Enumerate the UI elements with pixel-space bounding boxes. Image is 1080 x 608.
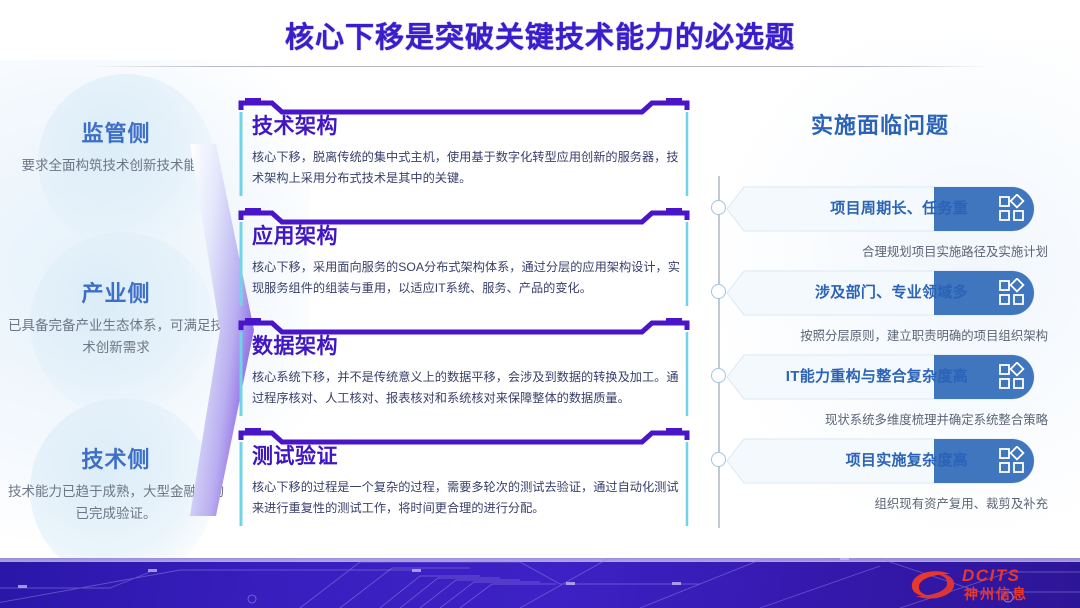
card-title: 测试验证 <box>252 440 680 470</box>
right-column: 实施面临问题 项目周期长、任务重 <box>700 104 1060 544</box>
issue-pill: 项目周期长、任务重 <box>726 186 1036 232</box>
timeline-node <box>711 284 726 299</box>
card-tech-architecture[interactable]: 技术架构 核心下移，脱离传统的集中式主机，使用基于数字化转型应用创新的服务器，技… <box>238 96 690 200</box>
card-app-architecture[interactable]: 应用架构 核心下移，采用面向服务的SOA分布式架构体系，通过分层的应用架构设计，… <box>238 206 690 310</box>
card-desc: 核心系统下移，并不是传统意义上的数据平移，会涉及到数据的转换及加工。通过程序核对… <box>252 367 680 409</box>
slide-header: 核心下移是突破关键技术能力的必选题 <box>0 0 1080 72</box>
card-test-verification[interactable]: 测试验证 核心下移的过程是一个复杂的过程，需要多轮次的测试去验证，通过自动化测试… <box>238 426 690 530</box>
company-logo: DCITS 神州信息 <box>906 564 1066 604</box>
card-title: 数据架构 <box>252 330 680 360</box>
issue-pill: IT能力重构与整合复杂度高 <box>726 354 1036 400</box>
card-desc: 核心下移的过程是一个复杂的过程，需要多轮次的测试去验证，通过自动化测试来进行重复… <box>252 477 680 519</box>
page-title: 核心下移是突破关键技术能力的必选题 <box>0 14 1080 56</box>
slide-root: 核心下移是突破关键技术能力的必选题 监管侧 要求全面构筑技术创新技术能力 产业侧… <box>0 0 1080 608</box>
grid-diamond-icon <box>998 278 1028 308</box>
card-body: 数据架构 核心系统下移，并不是传统意义上的数据平移，会涉及到数据的转换及加工。通… <box>252 330 680 409</box>
issue-sub-2: 按照分层原则，建立职责明确的项目组织架构 <box>800 326 1048 344</box>
issue-pill: 项目实施复杂度高 <box>726 438 1036 484</box>
logo-text-cn: 神州信息 <box>964 584 1028 604</box>
card-title: 技术架构 <box>252 110 680 140</box>
timeline-node <box>711 452 726 467</box>
issue-pill: 涉及部门、专业领域多 <box>726 270 1036 316</box>
card-body: 技术架构 核心下移，脱离传统的集中式主机，使用基于数字化转型应用创新的服务器，技… <box>252 110 680 189</box>
issue-label: IT能力重构与整合复杂度高 <box>786 365 968 386</box>
right-column-title: 实施面临问题 <box>700 108 1060 140</box>
slide-footer: DCITS 神州信息 <box>0 558 1080 608</box>
logo-mark-icon <box>906 566 958 604</box>
issue-label: 项目周期长、任务重 <box>830 197 968 218</box>
title-divider <box>88 66 992 67</box>
issue-item-1[interactable]: 项目周期长、任务重 <box>700 186 1060 232</box>
card-desc: 核心下移，脱离传统的集中式主机，使用基于数字化转型应用创新的服务器，技术架构上采… <box>252 147 680 189</box>
card-body: 应用架构 核心下移，采用面向服务的SOA分布式架构体系，通过分层的应用架构设计，… <box>252 220 680 299</box>
issue-sub-4: 组织现有资产复用、裁剪及补充 <box>875 494 1048 512</box>
card-title: 应用架构 <box>252 220 680 250</box>
timeline-node <box>711 368 726 383</box>
timeline-node <box>711 200 726 215</box>
card-desc: 核心下移，采用面向服务的SOA分布式架构体系，通过分层的应用架构设计，实现服务组… <box>252 257 680 299</box>
issue-item-2[interactable]: 涉及部门、专业领域多 <box>700 270 1060 316</box>
issue-sub-1: 合理规划项目实施路径及实施计划 <box>862 242 1048 260</box>
issue-label: 项目实施复杂度高 <box>846 449 968 470</box>
grid-diamond-icon <box>998 446 1028 476</box>
grid-diamond-icon <box>998 194 1028 224</box>
issue-sub-3: 现状系统多维度梳理并确定系统整合策略 <box>825 410 1048 428</box>
issue-label: 涉及部门、专业领域多 <box>815 281 968 302</box>
grid-diamond-icon <box>998 362 1028 392</box>
card-body: 测试验证 核心下移的过程是一个复杂的过程，需要多轮次的测试去验证，通过自动化测试… <box>252 440 680 519</box>
issue-item-4[interactable]: 项目实施复杂度高 <box>700 438 1060 484</box>
card-data-architecture[interactable]: 数据架构 核心系统下移，并不是传统意义上的数据平移，会涉及到数据的转换及加工。通… <box>238 316 690 420</box>
architecture-cards: 技术架构 核心下移，脱离传统的集中式主机，使用基于数字化转型应用创新的服务器，技… <box>238 96 690 536</box>
logo-text-en: DCITS <box>962 566 1021 586</box>
issue-item-3[interactable]: IT能力重构与整合复杂度高 <box>700 354 1060 400</box>
